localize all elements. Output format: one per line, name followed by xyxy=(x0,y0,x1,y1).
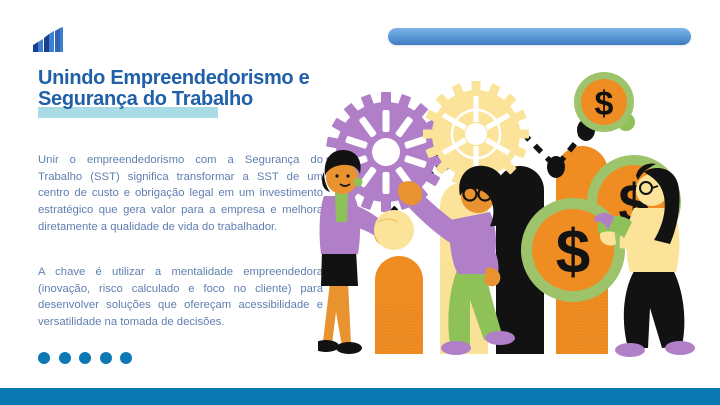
ascending-bars-logo[interactable] xyxy=(31,27,65,53)
pagination-dots[interactable] xyxy=(38,352,132,364)
bar-pillar-1 xyxy=(375,256,423,354)
body-paragraph-2: A chave é utilizar a mentalidade empreen… xyxy=(38,264,323,330)
pagination-dot[interactable] xyxy=(38,352,50,364)
title-line-2: Segurança do Trabalho xyxy=(38,88,253,110)
pagination-dot[interactable] xyxy=(59,352,71,364)
pagination-dot[interactable] xyxy=(120,352,132,364)
pagination-dot[interactable] xyxy=(100,352,112,364)
title-line-1: Unindo Empreendedorismo e xyxy=(38,67,309,89)
header-accent-pill xyxy=(388,28,691,45)
yellow-ball xyxy=(374,210,414,250)
coin-center: $ xyxy=(521,198,625,302)
illustration-svg: $ $ $ xyxy=(318,72,720,384)
footer-bar xyxy=(0,388,720,405)
page-title: Unindo Empreendedorismo eSegurança do Tr… xyxy=(38,68,338,110)
coin-symbol: $ xyxy=(556,218,590,287)
coin-symbol: $ xyxy=(595,85,614,123)
growth-teamwork-illustration: $ $ $ xyxy=(318,72,720,384)
logo-icon xyxy=(31,27,65,53)
coin-small-top: $ xyxy=(574,72,634,132)
pagination-dot[interactable] xyxy=(79,352,91,364)
body-paragraph-1: Unir o empreendedorismo com a Segurança … xyxy=(38,152,323,235)
slide-root: Unindo Empreendedorismo eSegurança do Tr… xyxy=(0,0,720,405)
page-title-text: Unindo Empreendedorismo eSegurança do Tr… xyxy=(38,68,338,110)
